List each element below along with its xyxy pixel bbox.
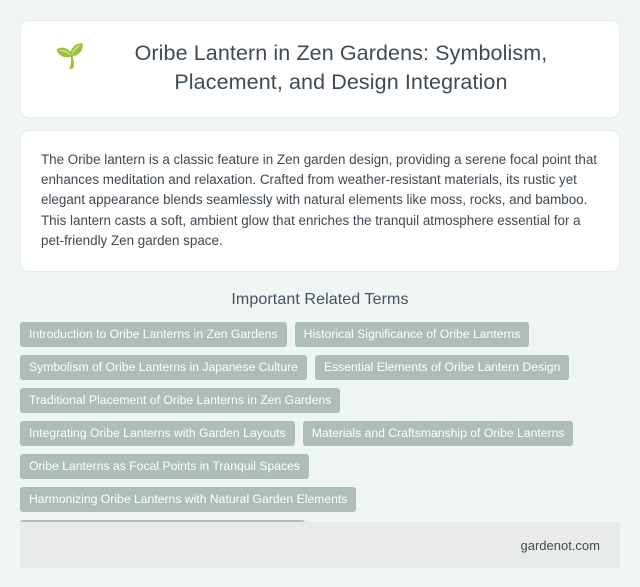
page-title: Oribe Lantern in Zen Gardens: Symbolism,… [97, 39, 585, 97]
article-page: 🌱 Oribe Lantern in Zen Gardens: Symbolis… [0, 0, 640, 587]
related-terms-section: Important Related Terms Introduction to … [20, 291, 620, 545]
footer-domain: gardenot.com [521, 538, 601, 553]
term-tag[interactable]: Introduction to Oribe Lanterns in Zen Ga… [20, 322, 287, 347]
term-tag[interactable]: Symbolism of Oribe Lanterns in Japanese … [20, 355, 307, 380]
site-footer: gardenot.com [20, 522, 620, 568]
seedling-icon: 🌱 [55, 39, 85, 71]
related-terms-heading: Important Related Terms [20, 291, 620, 309]
summary-paragraph: The Oribe lantern is a classic feature i… [41, 150, 599, 251]
term-tag[interactable]: Traditional Placement of Oribe Lanterns … [20, 388, 340, 413]
term-tag[interactable]: Harmonizing Oribe Lanterns with Natural … [20, 487, 356, 512]
term-tag[interactable]: Integrating Oribe Lanterns with Garden L… [20, 421, 295, 446]
term-tag[interactable]: Oribe Lanterns as Focal Points in Tranqu… [20, 454, 309, 479]
term-tag[interactable]: Essential Elements of Oribe Lantern Desi… [315, 355, 569, 380]
title-card: 🌱 Oribe Lantern in Zen Gardens: Symbolis… [20, 20, 620, 118]
related-terms-list: Introduction to Oribe Lanterns in Zen Ga… [20, 322, 620, 545]
term-tag[interactable]: Historical Significance of Oribe Lantern… [295, 322, 530, 347]
title-row: 🌱 Oribe Lantern in Zen Gardens: Symbolis… [55, 39, 585, 97]
term-tag[interactable]: Materials and Craftsmanship of Oribe Lan… [303, 421, 574, 446]
summary-card: The Oribe lantern is a classic feature i… [20, 130, 620, 272]
